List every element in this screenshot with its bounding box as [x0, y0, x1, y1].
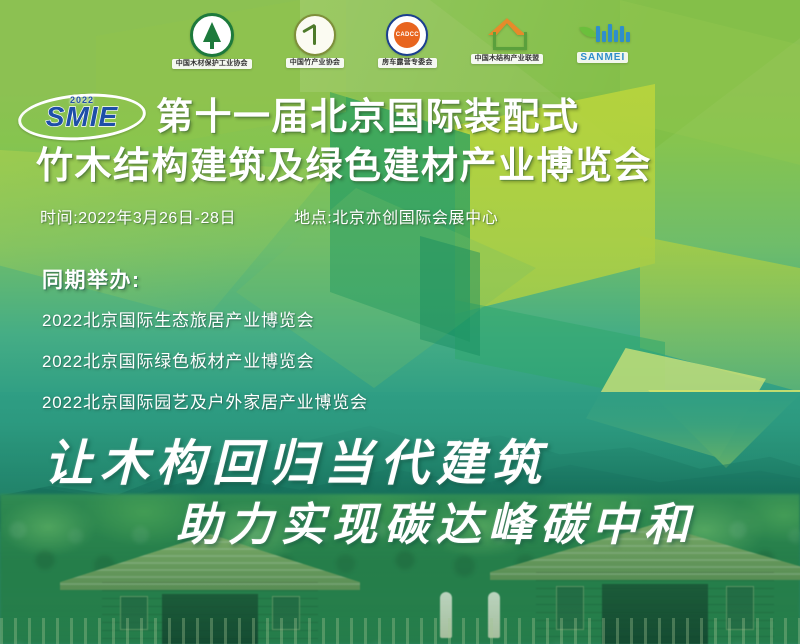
concurrent-heading: 同期举办: — [42, 264, 368, 294]
bg-facet-cube-edge — [420, 236, 480, 356]
assoc-name-label: 中国木材保护工业协会 — [172, 59, 252, 69]
assoc-name-label: 中国竹产业协会 — [286, 58, 344, 68]
concurrent-events-block: 同期举办: 2022北京国际生态旅居产业博览会 2022北京国际绿色板材产业博览… — [42, 264, 368, 429]
association-logo-bar: 中国木材保护工业协会 中国竹产业协会 CADCC 房车露营专委会 中国木结构产业… — [0, 0, 800, 82]
assoc-name-label: 房车露营专委会 — [378, 58, 436, 68]
page-title-line-2: 竹木结构建筑及绿色建材产业博览会 — [18, 144, 782, 188]
house-outline-icon — [484, 18, 530, 52]
leaf-shape — [579, 23, 597, 41]
pine-tree-emblem-icon — [190, 13, 234, 57]
house-body-shape — [493, 32, 527, 50]
bamboo-emblem-icon — [294, 14, 336, 56]
assoc-logo-timber-protection[interactable]: 中国木材保护工业协会 — [172, 13, 252, 69]
assoc-logo-bamboo-industry[interactable]: 中国竹产业协会 — [286, 14, 344, 68]
concurrent-event-item: 2022北京国际园艺及户外家居产业博览会 — [42, 388, 368, 413]
event-date: 时间:2022年3月26日-28日 — [40, 204, 236, 228]
smie-name-label: SMIE — [18, 103, 146, 131]
event-venue: 地点:北京亦创国际会展中心 — [294, 204, 498, 228]
assoc-logo-sanmei[interactable]: SANMEI — [577, 20, 628, 63]
title-block: 2022 SMIE 第十一届北京国际装配式 竹木结构建筑及绿色建材产业博览会 时… — [0, 92, 800, 228]
title-row-1: 2022 SMIE 第十一届北京国际装配式 — [18, 92, 782, 142]
expo-poster: 中国木材保护工业协会 中国竹产业协会 CADCC 房车露营专委会 中国木结构产业… — [0, 0, 800, 644]
sanmei-abbr-label: SANMEI — [577, 52, 628, 63]
assoc-name-label: 中国木结构产业联盟 — [471, 54, 544, 64]
concurrent-event-item: 2022北京国际生态旅居产业博览会 — [42, 306, 368, 331]
page-title-line-1: 第十一届北京国际装配式 — [156, 95, 580, 139]
assoc-logo-cadcc[interactable]: CADCC 房车露营专委会 — [378, 14, 436, 68]
assoc-logo-cusa[interactable]: 中国木结构产业联盟 — [471, 18, 544, 64]
slogan-line-2: 助力实现碳达峰碳中和 — [176, 488, 696, 553]
smie-logo[interactable]: 2022 SMIE — [18, 92, 146, 142]
event-meta: 时间:2022年3月26日-28日 地点:北京亦创国际会展中心 — [18, 204, 782, 228]
slogan-line-1: 让木构回归当代建筑 — [44, 424, 548, 495]
sanmei-bars-shape — [596, 24, 630, 42]
cadcc-badge-icon: CADCC — [386, 14, 428, 56]
cadcc-abbr-label: CADCC — [394, 22, 420, 48]
leaf-sanmei-icon — [580, 20, 626, 50]
concurrent-event-item: 2022北京国际绿色板材产业博览会 — [42, 347, 368, 372]
